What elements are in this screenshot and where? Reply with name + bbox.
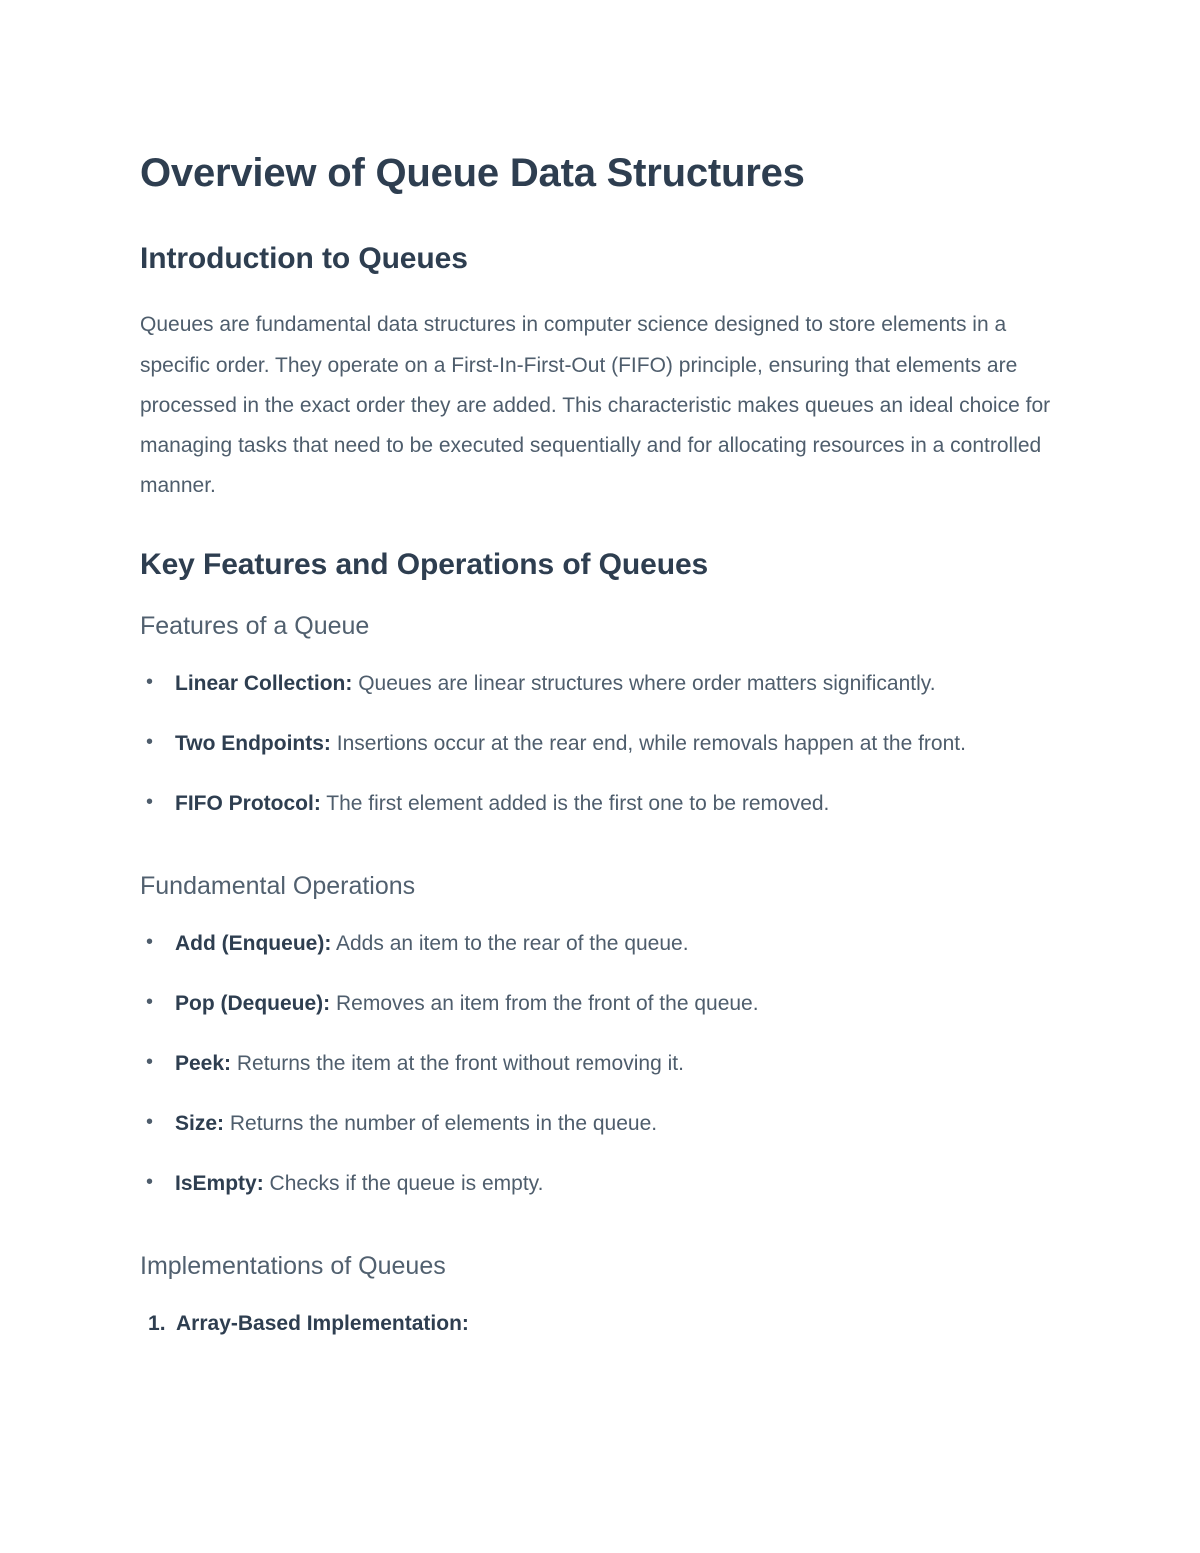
features-list: Linear Collection: Queues are linear str… (140, 667, 1055, 821)
list-item-term: FIFO Protocol: (175, 792, 321, 815)
list-item-description: Checks if the queue is empty. (264, 1172, 544, 1195)
section-heading-key-features: Key Features and Operations of Queues (140, 547, 1055, 583)
list-item: Peek: Returns the item at the front with… (140, 1047, 1055, 1081)
list-item-term: IsEmpty: (175, 1172, 264, 1195)
list-item-term: Pop (Dequeue): (175, 992, 330, 1015)
list-item-description: The first element added is the first one… (321, 792, 830, 815)
list-item-term: Add (Enqueue): (175, 932, 331, 955)
list-item-description: Queues are linear structures where order… (352, 672, 935, 695)
subsection-heading-fundamental-operations: Fundamental Operations (140, 871, 1055, 901)
subsection-heading-implementations-of-queues: Implementations of Queues (140, 1251, 1055, 1281)
list-item-description: Returns the item at the front without re… (231, 1052, 684, 1075)
list-item-term: Peek: (175, 1052, 231, 1075)
list-item-term: Linear Collection: (175, 672, 352, 695)
list-item-term: Two Endpoints: (175, 732, 331, 755)
list-item: Two Endpoints: Insertions occur at the r… (140, 727, 1055, 761)
list-item: Linear Collection: Queues are linear str… (140, 667, 1055, 701)
section-heading-introduction: Introduction to Queues (140, 241, 1055, 277)
list-item-description: Returns the number of elements in the qu… (224, 1112, 657, 1135)
list-item-term: Array-Based Implementation: (176, 1312, 469, 1335)
list-item-term: Size: (175, 1112, 224, 1135)
operations-list: Add (Enqueue): Adds an item to the rear … (140, 927, 1055, 1201)
implementations-list: Array-Based Implementation: (140, 1307, 1055, 1341)
list-item: Array-Based Implementation: (140, 1307, 1055, 1341)
page-title: Overview of Queue Data Structures (140, 150, 1055, 197)
list-item: Add (Enqueue): Adds an item to the rear … (140, 927, 1055, 961)
subsection-heading-features-of-a-queue: Features of a Queue (140, 611, 1055, 641)
list-item-description: Insertions occur at the rear end, while … (331, 732, 966, 755)
list-item: IsEmpty: Checks if the queue is empty. (140, 1167, 1055, 1201)
list-item: Pop (Dequeue): Removes an item from the … (140, 987, 1055, 1021)
list-item: Size: Returns the number of elements in … (140, 1107, 1055, 1141)
list-item: FIFO Protocol: The first element added i… (140, 787, 1055, 821)
list-item-description: Adds an item to the rear of the queue. (331, 932, 688, 955)
introduction-paragraph: Queues are fundamental data structures i… (140, 305, 1055, 507)
document-page: Overview of Queue Data Structures Introd… (0, 0, 1200, 1553)
list-item-description: Removes an item from the front of the qu… (330, 992, 758, 1015)
